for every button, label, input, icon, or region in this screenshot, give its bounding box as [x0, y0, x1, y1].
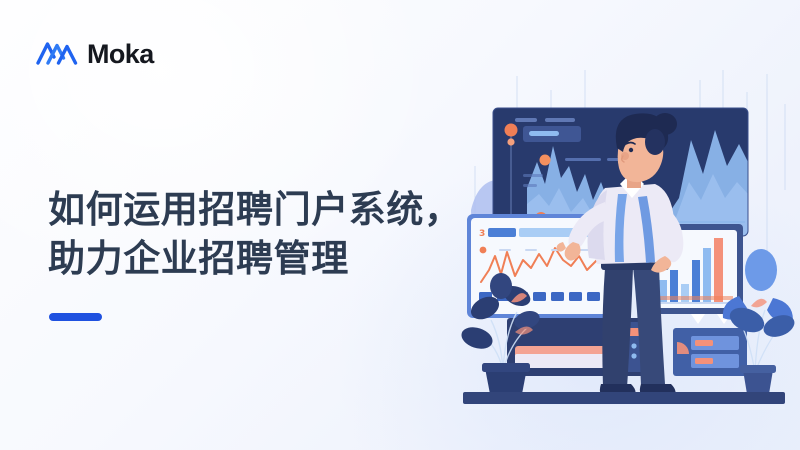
marketing-banner: Moka 如何运用招聘门户系统， 助力企业招聘管理	[0, 0, 800, 450]
analytics-dashboard-person-illustration: 3	[455, 70, 800, 410]
svg-text:3: 3	[479, 229, 485, 239]
brand-logo[interactable]: Moka	[36, 38, 154, 71]
page-title: 如何运用招聘门户系统， 助力企业招聘管理	[48, 186, 518, 284]
headline-line-1: 如何运用招聘门户系统，	[48, 186, 518, 235]
title-accent-bar	[49, 313, 102, 321]
headline-line-2: 助力企业招聘管理	[48, 235, 518, 284]
moka-mountain-logo-icon	[36, 38, 78, 71]
floor-bar	[463, 392, 785, 404]
brand-name: Moka	[87, 41, 154, 68]
